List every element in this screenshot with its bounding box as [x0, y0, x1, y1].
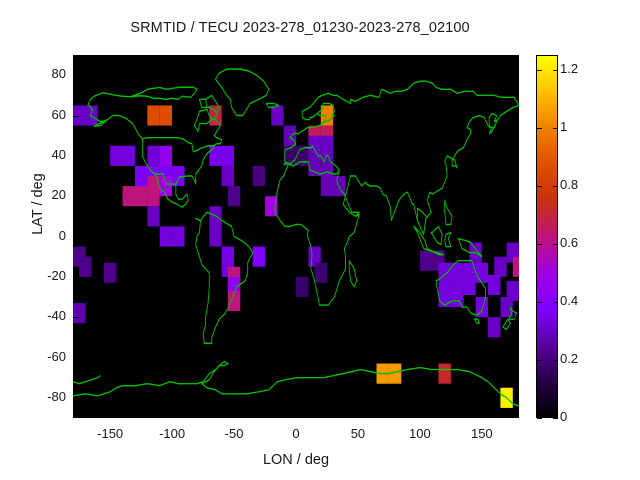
colorbar-gradient	[537, 56, 557, 417]
y-tick-mark	[73, 75, 79, 76]
colorbar-tick-label: 0.4	[560, 293, 578, 308]
y-tick-mark	[513, 156, 519, 157]
heatmap-cell	[284, 126, 296, 146]
y-tick-mark	[73, 237, 79, 238]
y-tick-label: -40	[30, 308, 66, 323]
heatmap-cell	[110, 146, 122, 166]
heatmap-cell	[296, 277, 308, 297]
colorbar	[536, 55, 558, 418]
x-tick-mark	[358, 55, 359, 61]
y-tick-mark	[73, 156, 79, 157]
heatmap-cell	[513, 257, 519, 277]
plot-background	[73, 55, 519, 418]
x-tick-mark	[110, 412, 111, 418]
x-tick-mark	[110, 55, 111, 61]
heatmap-cell	[253, 247, 265, 267]
heatmap-cell	[160, 226, 172, 246]
x-tick-mark	[172, 412, 173, 418]
x-tick-label: 50	[328, 426, 388, 441]
x-tick-label: -50	[204, 426, 264, 441]
colorbar-tick-label: 0.8	[560, 177, 578, 192]
heatmap-cell	[73, 303, 85, 323]
heatmap-cell	[494, 257, 506, 277]
colorbar-tick-mark	[553, 360, 558, 361]
x-tick-label: -100	[142, 426, 202, 441]
colorbar-tick-mark	[537, 244, 542, 245]
colorbar-tick-mark	[537, 186, 542, 187]
heatmap-cell	[147, 146, 159, 166]
y-tick-mark	[513, 237, 519, 238]
x-tick-label: 150	[452, 426, 512, 441]
heatmap-cell	[147, 206, 159, 226]
y-tick-mark	[73, 196, 79, 197]
heatmap-cell	[321, 136, 333, 156]
heatmap-cell	[438, 364, 450, 384]
y-tick-mark	[73, 277, 79, 278]
heatmap-cell	[160, 105, 172, 125]
x-tick-mark	[296, 55, 297, 61]
y-tick-mark	[513, 317, 519, 318]
colorbar-tick-mark	[553, 186, 558, 187]
heatmap-cell	[271, 105, 283, 125]
x-tick-mark	[358, 412, 359, 418]
heatmap-cell	[160, 176, 172, 196]
heatmap-cell	[79, 257, 91, 277]
colorbar-tick-mark	[553, 70, 558, 71]
y-tick-mark	[513, 196, 519, 197]
colorbar-tick-label: 1	[560, 119, 567, 134]
heatmap-cell	[209, 146, 221, 166]
y-tick-mark	[73, 398, 79, 399]
y-tick-mark	[73, 116, 79, 117]
y-tick-mark	[73, 317, 79, 318]
colorbar-tick-mark	[553, 302, 558, 303]
heatmap-cell	[147, 105, 159, 125]
colorbar-tick-mark	[553, 418, 558, 419]
heatmap-cell	[488, 275, 500, 295]
colorbar-tick-mark	[553, 244, 558, 245]
heatmap-cell	[321, 176, 333, 196]
heatmap-cell	[135, 186, 147, 206]
x-tick-mark	[420, 55, 421, 61]
colorbar-tick-label: 0.6	[560, 235, 578, 250]
heatmap-cell	[147, 186, 159, 206]
y-tick-label: -60	[30, 349, 66, 364]
heatmap-cell	[253, 166, 265, 186]
x-axis-label: LON / deg	[73, 452, 519, 468]
heatmap-cell	[123, 186, 135, 206]
colorbar-tick-label: 0.2	[560, 351, 578, 366]
x-tick-mark	[482, 55, 483, 61]
y-tick-mark	[513, 398, 519, 399]
y-tick-label: -80	[30, 389, 66, 404]
x-tick-mark	[234, 412, 235, 418]
x-tick-mark	[234, 55, 235, 61]
map-canvas	[73, 55, 519, 418]
colorbar-tick-mark	[537, 70, 542, 71]
colorbar-tick-label: 0	[560, 409, 567, 424]
colorbar-tick-mark	[553, 128, 558, 129]
heatmap-cell	[438, 287, 450, 307]
y-tick-mark	[513, 277, 519, 278]
y-axis-label: LAT / deg	[30, 134, 46, 274]
x-tick-mark	[482, 412, 483, 418]
x-tick-label: -150	[80, 426, 140, 441]
colorbar-tick-mark	[537, 128, 542, 129]
heatmap-cell	[308, 136, 320, 156]
heatmap-cell	[209, 226, 221, 246]
heatmap-cell	[315, 263, 327, 283]
heatmap-cell	[463, 275, 475, 295]
map-plot-area	[73, 55, 519, 418]
heatmap-cell	[123, 146, 135, 166]
y-tick-mark	[513, 358, 519, 359]
heatmap-cell	[172, 226, 184, 246]
heatmap-cell	[104, 263, 116, 283]
heatmap-cell	[135, 166, 147, 186]
heatmap-cell	[451, 287, 463, 307]
y-tick-mark	[513, 116, 519, 117]
heatmap-cell	[420, 251, 432, 271]
heatmap-cell	[476, 263, 488, 283]
heatmap-cell	[222, 166, 234, 186]
y-tick-mark	[513, 75, 519, 76]
heatmap-cell	[488, 317, 500, 337]
colorbar-tick-mark	[537, 302, 542, 303]
y-tick-label: 80	[30, 66, 66, 81]
y-tick-label: 60	[30, 107, 66, 122]
x-tick-mark	[420, 412, 421, 418]
x-tick-mark	[172, 55, 173, 61]
heatmap-cell	[228, 186, 240, 206]
y-tick-mark	[73, 358, 79, 359]
heatmap-cell	[222, 146, 234, 166]
colorbar-tick-label: 1.2	[560, 61, 578, 76]
colorbar-tick-mark	[537, 418, 542, 419]
x-tick-label: 0	[266, 426, 326, 441]
x-tick-label: 100	[390, 426, 450, 441]
x-tick-mark	[296, 412, 297, 418]
heatmap-cell	[160, 146, 172, 166]
colorbar-tick-mark	[537, 360, 542, 361]
page-title: SRMTID / TECU 2023-278_01230-2023-278_02…	[0, 20, 600, 36]
